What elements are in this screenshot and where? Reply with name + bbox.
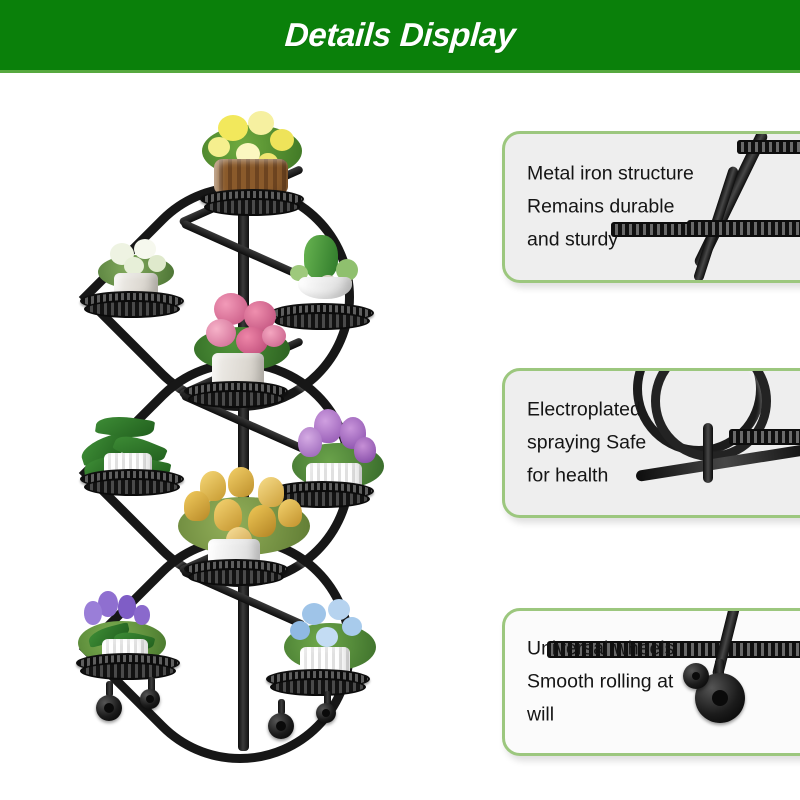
caster-wheel	[268, 713, 294, 739]
pot-white-shallow	[298, 277, 352, 299]
feature-text-metal-structure: Metal iron structure Remains durable and…	[527, 158, 694, 257]
tray-bottom-right	[266, 669, 370, 699]
feature-card-metal-structure: Metal iron structure Remains durable and…	[502, 131, 800, 283]
feature-card-electroplated: Electroplated spraying Safe for health	[502, 368, 800, 518]
tray-center-upper	[184, 381, 288, 411]
caster-wheel	[316, 703, 336, 723]
caster-wheel	[96, 695, 122, 721]
tray-mid-left-lower	[80, 469, 184, 499]
product-image-panel	[0, 73, 492, 800]
tray-bottom-left	[76, 653, 180, 683]
feature-text-universal-wheels: Universal wheels Smooth rolling at will	[527, 633, 674, 732]
feature-card-universal-wheels: Universal wheels Smooth rolling at will	[502, 608, 800, 756]
tray-mid-left-upper	[80, 291, 184, 321]
caster-wheel	[140, 689, 160, 709]
page-title: Details Display	[284, 16, 517, 54]
header-banner: Details Display	[0, 0, 800, 73]
caster-wheel-small	[683, 663, 709, 689]
feature-text-electroplated: Electroplated spraying Safe for health	[527, 394, 646, 493]
tray-top	[200, 189, 304, 219]
tray-center-lower	[184, 559, 288, 589]
plant-stand-illustration	[52, 91, 452, 791]
feature-art-electroplated	[629, 371, 800, 515]
